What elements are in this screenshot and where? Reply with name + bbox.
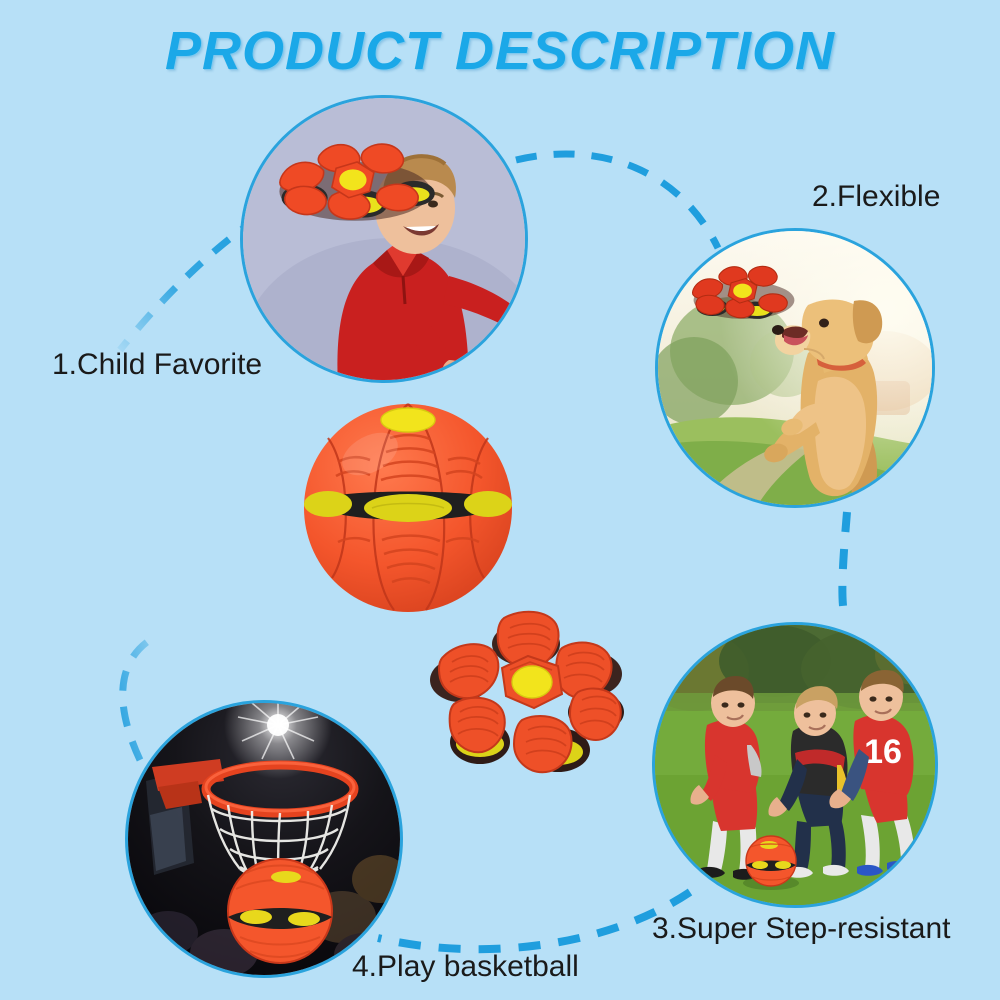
- feature-label-child-favorite: 1.Child Favorite: [52, 348, 262, 382]
- connector-1-to-2: [516, 154, 718, 248]
- page-title: PRODUCT DESCRIPTION: [0, 20, 1000, 82]
- feature-label-flexible: 2.Flexible: [812, 180, 940, 214]
- feature-photo-flexible[interactable]: [655, 228, 935, 508]
- feature-label-play-basketball: 4.Play basketball: [352, 950, 579, 984]
- feature-photo-play-basketball[interactable]: [125, 700, 403, 978]
- connector-4-to-1: [123, 640, 150, 760]
- connector-2-to-3: [842, 512, 847, 618]
- jersey-number: 16: [864, 733, 902, 771]
- product-flattened-disc: [418, 608, 633, 783]
- feature-photo-super-step-resistant[interactable]: 16: [652, 622, 938, 908]
- connector-label1-to-circle1: [120, 218, 258, 350]
- product-inflated-ball: [298, 398, 518, 618]
- product-description-infographic: PRODUCT DESCRIPTION: [0, 0, 1000, 1000]
- connector-3-to-4: [378, 892, 690, 949]
- feature-photo-child-favorite[interactable]: [240, 95, 528, 383]
- feature-label-super-step-resistant: 3.Super Step-resistant: [652, 912, 951, 946]
